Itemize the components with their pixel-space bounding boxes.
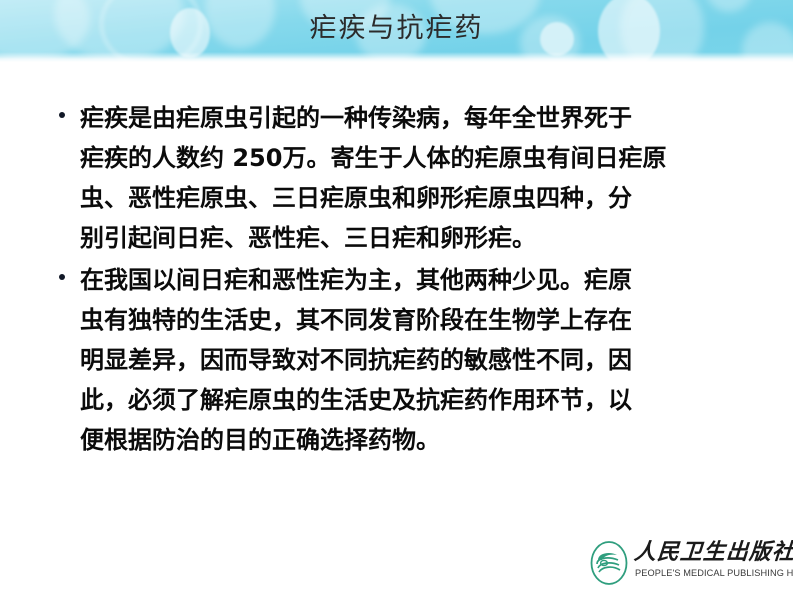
bullet-line: 虫、恶性疟原虫、三日疟原虫和卵形疟原虫四种，分	[80, 184, 632, 212]
publisher-name-en: PEOPLE'S MEDICAL PUBLISHING HOUSE	[635, 568, 793, 580]
bullet-marker-icon	[54, 98, 80, 118]
slide-title: 疟疾与抗疟药	[0, 9, 793, 49]
slide-header-band: 疟疾与抗疟药	[0, 0, 793, 62]
bullet-line: 别引起间日疟、恶性疟、三日疟和卵形疟。	[80, 224, 536, 252]
bullet-text: 疟疾是由疟原虫引起的一种传染病，每年全世界死于 疟疾的人数约 250万。寄生于人…	[80, 98, 734, 258]
publisher-name-cn: 人民卫生出版社	[633, 538, 793, 566]
bullet-line: 疟疾是由疟原虫引起的一种传染病，每年全世界死于	[80, 104, 632, 132]
slide-body: 疟疾是由疟原虫引起的一种传染病，每年全世界死于 疟疾的人数约 250万。寄生于人…	[54, 98, 734, 460]
bullet-item: 在我国以间日疟和恶性疟为主，其他两种少见。疟原 虫有独特的生活史，其不同发育阶段…	[54, 260, 734, 460]
bullet-line: 此，必须了解疟原虫的生活史及抗疟药作用环节，以	[80, 386, 632, 414]
header-bottom-fade	[0, 52, 793, 62]
presentation-slide: 疟疾与抗疟药 疟疾是由疟原虫引起的一种传染病，每年全世界死于 疟疾的人数约 25…	[0, 0, 793, 595]
pmph-emblem-icon	[588, 540, 630, 586]
bullet-line: 明显差异，因而导致对不同抗疟药的敏感性不同，因	[80, 346, 632, 374]
bullet-line: 疟疾的人数约 250万。寄生于人体的疟原虫有间日疟原	[80, 144, 666, 172]
bullet-line: 便根据防治的目的正确选择药物。	[80, 426, 440, 454]
publisher-logo: 人民卫生出版社 PEOPLE'S MEDICAL PUBLISHING HOUS…	[588, 537, 788, 589]
bullet-line: 虫有独特的生活史，其不同发育阶段在生物学上存在	[80, 306, 632, 334]
bullet-marker-icon	[54, 260, 80, 280]
bullet-text: 在我国以间日疟和恶性疟为主，其他两种少见。疟原 虫有独特的生活史，其不同发育阶段…	[80, 260, 734, 460]
bullet-item: 疟疾是由疟原虫引起的一种传染病，每年全世界死于 疟疾的人数约 250万。寄生于人…	[54, 98, 734, 258]
bullet-line: 在我国以间日疟和恶性疟为主，其他两种少见。疟原	[80, 266, 632, 294]
